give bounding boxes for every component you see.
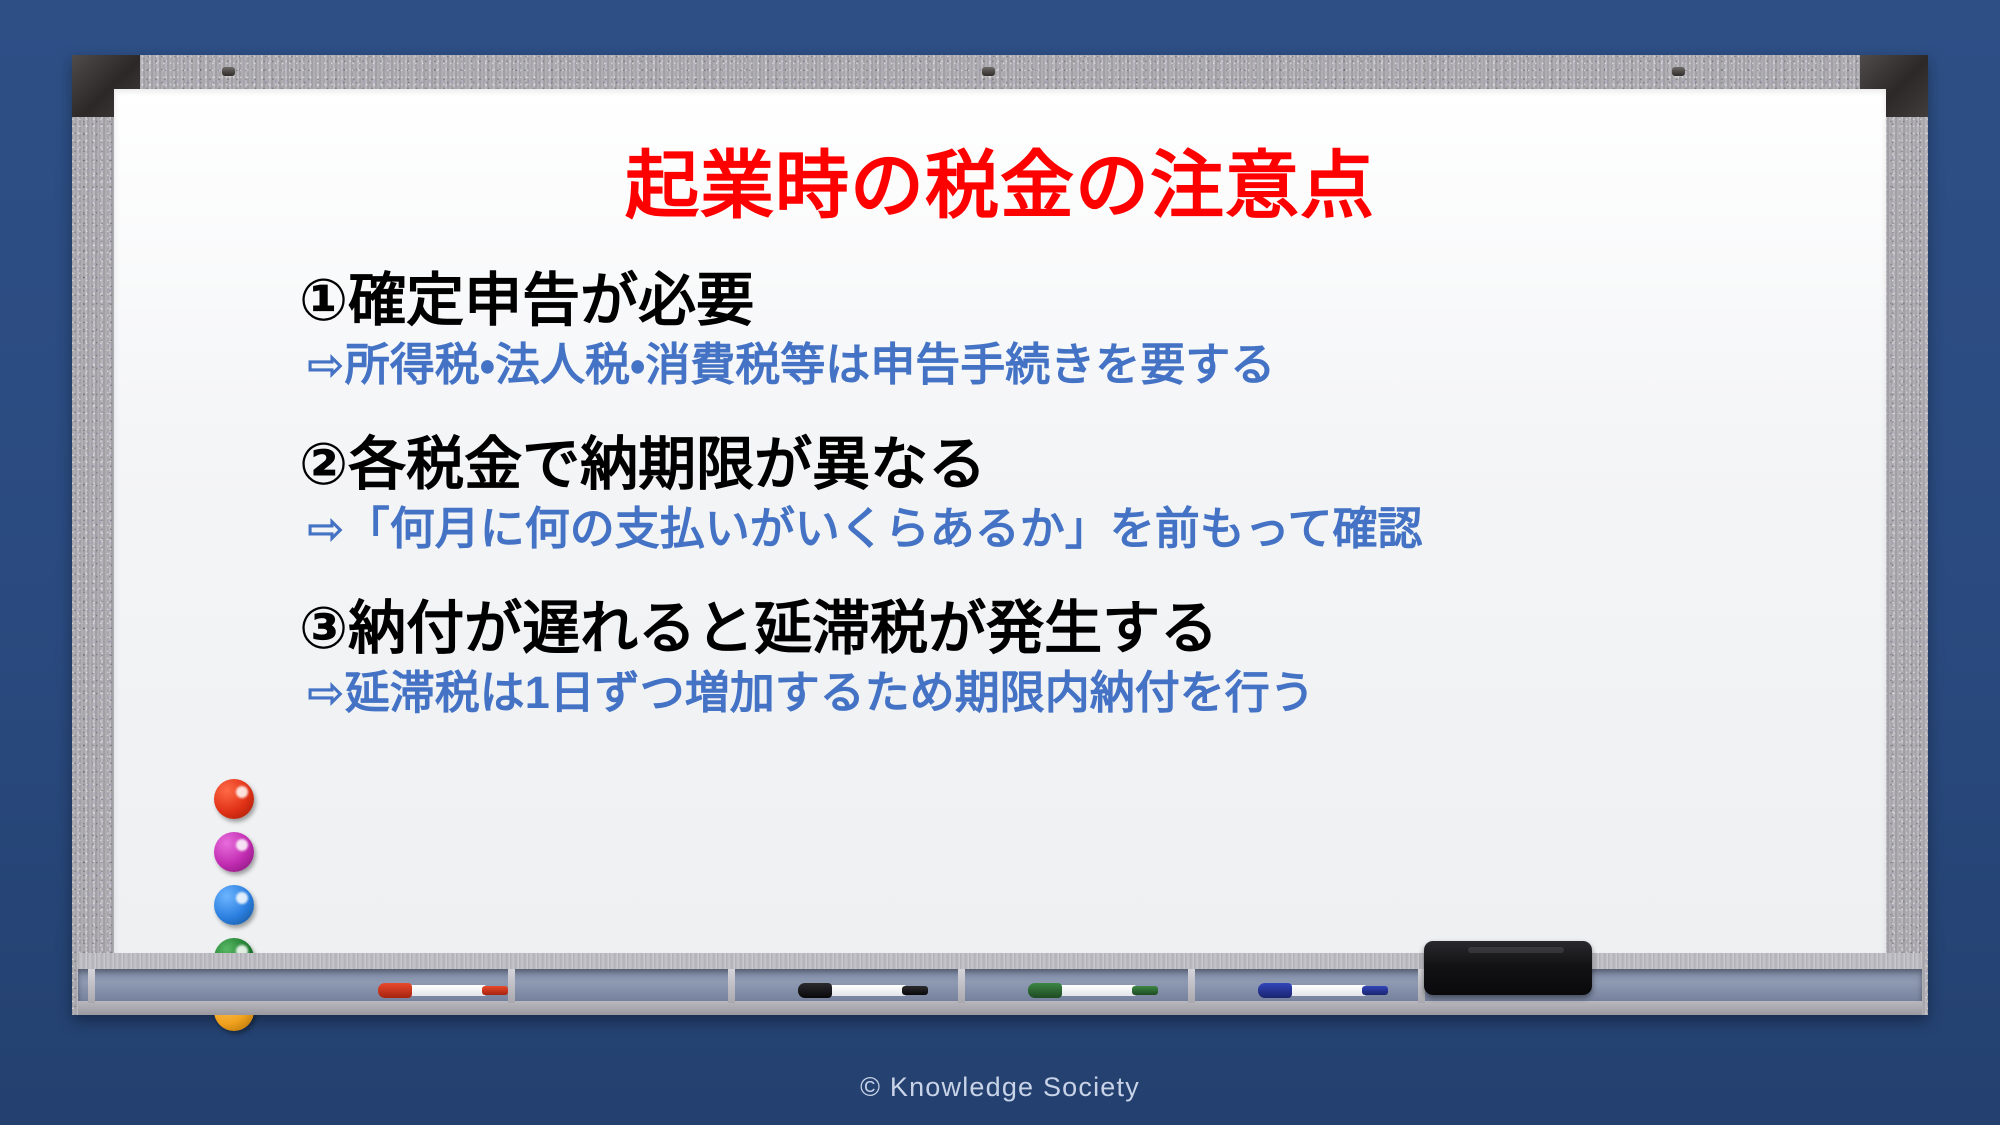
- bullet-item-3: ③納付が遅れると延滞税が発生する ⇨延滞税は1日ずつ増加するため期限内納付を行う: [299, 597, 1846, 719]
- marker-barrel: [1288, 985, 1366, 996]
- bullet-subtext: ⇨延滞税は1日ずつ増加するため期限内納付を行う: [299, 666, 1846, 719]
- marker-barrel: [1058, 985, 1136, 996]
- marker-barrel: [828, 985, 906, 996]
- tray-divider: [958, 969, 965, 1003]
- marker-tail: [1132, 986, 1158, 995]
- marker-tail: [902, 986, 928, 995]
- frame-screw: [1672, 67, 1685, 76]
- bullet-heading: ③納付が遅れると延滞税が発生する: [299, 597, 1846, 662]
- slide-canvas: 起業時の税金の注意点 ①確定申告が必要 ⇨所得税・法人税・消費税等は申告手続きを…: [0, 0, 2000, 1125]
- bullet-heading: ②各税金で納期限が異なる: [299, 433, 1846, 498]
- bullet-subtext: ⇨「何月に何の支払いがいくらあるか」を前もって確認: [299, 502, 1846, 555]
- tray-top-rail: [78, 953, 1922, 969]
- bullet-subtext: ⇨所得税・法人税・消費税等は申告手続きを要する: [299, 338, 1846, 391]
- bullet-item-2: ②各税金で納期限が異なる ⇨「何月に何の支払いがいくらあるか」を前もって確認: [299, 433, 1846, 555]
- whiteboard-eraser[interactable]: [1424, 941, 1592, 995]
- magnet-red[interactable]: [214, 779, 254, 819]
- slide-content: 起業時の税金の注意点 ①確定申告が必要 ⇨所得税・法人税・消費税等は申告手続きを…: [114, 89, 1886, 955]
- bullet-list: ①確定申告が必要 ⇨所得税・法人税・消費税等は申告手続きを要する ②各税金で納期…: [299, 269, 1846, 719]
- marker-cap: [378, 983, 412, 998]
- magnet-magenta[interactable]: [214, 832, 254, 872]
- tray-well: [78, 969, 1922, 1003]
- bullet-item-1: ①確定申告が必要 ⇨所得税・法人税・消費税等は申告手続きを要する: [299, 269, 1846, 391]
- marker-cap: [1258, 983, 1292, 998]
- tray-divider: [728, 969, 735, 1003]
- bullet-heading: ①確定申告が必要: [299, 269, 1846, 334]
- whiteboard-surface: 起業時の税金の注意点 ①確定申告が必要 ⇨所得税・法人税・消費税等は申告手続きを…: [114, 89, 1886, 955]
- marker-cap: [798, 983, 832, 998]
- frame-screw: [222, 67, 235, 76]
- tray-divider: [88, 969, 95, 1003]
- frame-screw: [982, 67, 995, 76]
- tray-divider: [1188, 969, 1195, 1003]
- magnet-blue[interactable]: [214, 885, 254, 925]
- tray-divider: [508, 969, 515, 1003]
- marker-tail: [1362, 986, 1388, 995]
- marker-cap: [1028, 983, 1062, 998]
- marker-tail: [482, 986, 508, 995]
- marker-barrel: [408, 985, 486, 996]
- footer-copyright: © Knowledge Society: [0, 1072, 2000, 1103]
- whiteboard: 起業時の税金の注意点 ①確定申告が必要 ⇨所得税・法人税・消費税等は申告手続きを…: [72, 55, 1928, 1015]
- tray-lip: [78, 1001, 1922, 1015]
- page-title: 起業時の税金の注意点: [114, 147, 1886, 225]
- pen-tray: [78, 953, 1922, 1015]
